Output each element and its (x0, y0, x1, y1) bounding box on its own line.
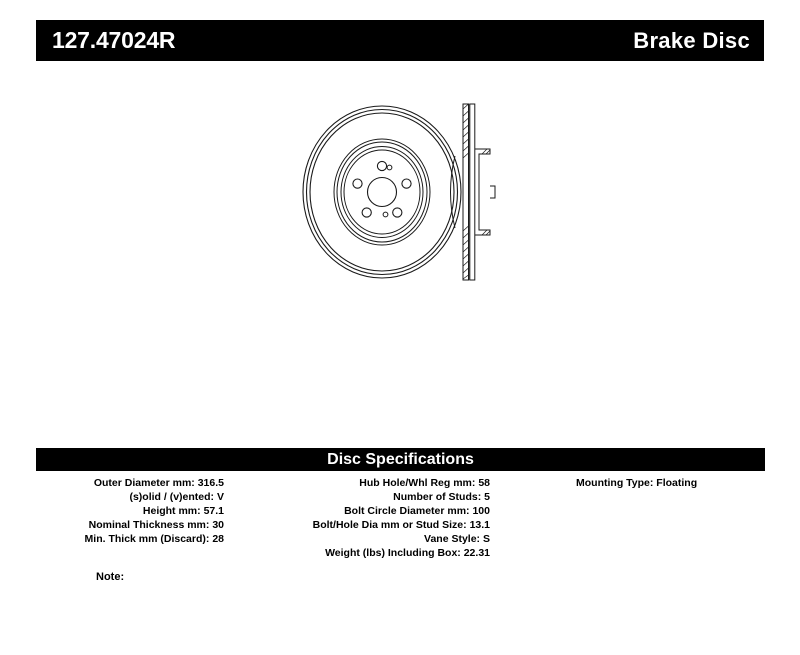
spec-label: Height mm: (143, 505, 201, 517)
product-type-label: Brake Disc (633, 30, 750, 52)
spec-value: 58 (478, 477, 490, 489)
note-value (124, 571, 128, 583)
spec-label: Hub Hole/Whl Reg mm: (359, 477, 475, 489)
spec-label: Mounting Type: (576, 477, 653, 489)
brake-disc-drawing (285, 90, 510, 295)
spec-row: Bolt/Hole Dia mm or Stud Size: 13.1 (234, 518, 490, 532)
spec-row: Number of Studs: 5 (234, 490, 490, 504)
spec-value: V (217, 491, 224, 503)
spec-row: Height mm: 57.1 (36, 504, 224, 518)
header-bar: 127.47024R Brake Disc (36, 20, 764, 61)
spec-value: 5 (484, 491, 490, 503)
spec-label: Weight (lbs) Including Box: (325, 547, 461, 559)
spec-label: Nominal Thickness mm: (89, 519, 210, 531)
spec-label: Bolt Circle Diameter mm: (344, 505, 469, 517)
spec-label: Outer Diameter mm: (94, 477, 195, 489)
spec-label: Min. Thick mm (Discard): (85, 533, 210, 545)
spec-row: Vane Style: S (234, 532, 490, 546)
spec-column-left: Outer Diameter mm: 316.5 (s)olid / (v)en… (36, 476, 224, 546)
spec-value: 57.1 (204, 505, 224, 517)
brake-disc-drawing-svg (285, 90, 510, 295)
brake-rotor-side-section-view (463, 104, 495, 280)
spec-label: Vane Style: (424, 533, 480, 545)
spec-label: (s)olid / (v)ented: (129, 491, 214, 503)
spec-label: Number of Studs: (393, 491, 481, 503)
spec-column-right: Mounting Type: Floating (512, 476, 765, 490)
spec-row: (s)olid / (v)ented: V (36, 490, 224, 504)
spec-row: Mounting Type: Floating (512, 476, 765, 490)
spec-value: 30 (212, 519, 224, 531)
spec-section-header: Disc Specifications (36, 448, 765, 471)
page-title: 127.47024R (52, 29, 175, 52)
spec-value: 316.5 (198, 477, 224, 489)
spec-value: 22.31 (464, 547, 490, 559)
spec-row: Nominal Thickness mm: 30 (36, 518, 224, 532)
note-block: Note: (96, 570, 128, 584)
spec-column-middle: Hub Hole/Whl Reg mm: 58 Number of Studs:… (234, 476, 490, 560)
spec-row: Outer Diameter mm: 316.5 (36, 476, 224, 490)
spec-row: Hub Hole/Whl Reg mm: 58 (234, 476, 490, 490)
spec-value: Floating (656, 477, 697, 489)
note-label: Note: (96, 571, 124, 583)
brake-rotor-front-view (303, 106, 461, 278)
spec-value: 13.1 (470, 519, 490, 531)
spec-row: Bolt Circle Diameter mm: 100 (234, 504, 490, 518)
spec-value: 100 (472, 505, 490, 517)
stud-holes (353, 161, 411, 217)
spec-row: Weight (lbs) Including Box: 22.31 (234, 546, 490, 560)
spec-row: Min. Thick mm (Discard): 28 (36, 532, 224, 546)
pilot-holes (383, 165, 392, 217)
spec-value: S (483, 533, 490, 545)
spec-section-title: Disc Specifications (327, 452, 474, 468)
spec-label: Bolt/Hole Dia mm or Stud Size: (313, 519, 467, 531)
spec-value: 28 (212, 533, 224, 545)
